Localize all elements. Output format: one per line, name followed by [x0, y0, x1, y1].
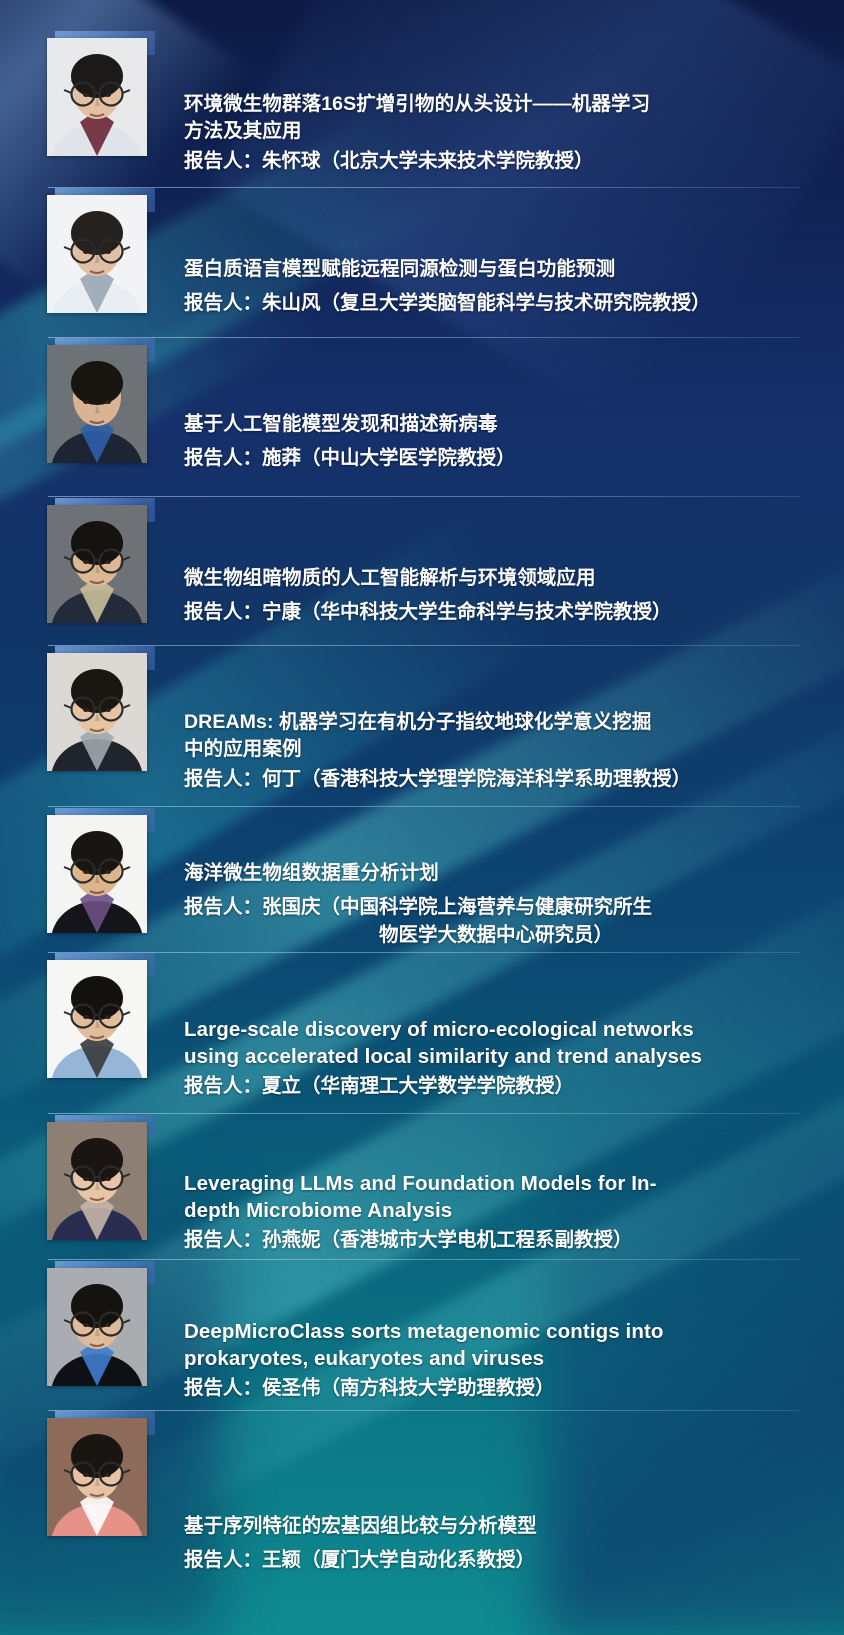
speaker-text: 报告人：孙燕妮（香港城市大学电机工程系副教授） [184, 1229, 633, 1251]
session-text: Large-scale discovery of micro-ecologica… [147, 960, 814, 1100]
session-text: 环境微生物群落16S扩增引物的从头设计——机器学习方法及其应用报告人：朱怀球（北… [147, 38, 814, 175]
speaker-text: 报告人：宁康（华中科技大学生命科学与技术学院教授） [184, 601, 672, 623]
portrait-xia-li [47, 960, 147, 1078]
talk-title: 基于人工智能模型发现和描述新病毒 [184, 411, 814, 438]
talk-title: DeepMicroClass sorts metagenomic contigs… [184, 1318, 814, 1372]
speaker-line: 报告人：何丁（香港科技大学理学院海洋科学系助理教授） [184, 765, 814, 793]
speaker-text: 报告人：王颖（厦门大学自动化系教授） [184, 1549, 535, 1571]
speaker-line: 报告人：朱怀球（北京大学未来技术学院教授） [184, 147, 814, 175]
speaker-line: 报告人：王颖（厦门大学自动化系教授） [184, 1546, 814, 1574]
session-divider [48, 337, 800, 338]
talk-title: 环境微生物群落16S扩增引物的从头设计——机器学习方法及其应用 [184, 91, 814, 145]
speaker-line: 报告人：宁康（华中科技大学生命科学与技术学院教授） [184, 598, 814, 626]
session-item[interactable]: 基于序列特征的宏基因组比较与分析模型报告人：王颖（厦门大学自动化系教授） [0, 1418, 844, 1635]
session-item[interactable]: 基于人工智能模型发现和描述新病毒报告人：施莽（中山大学医学院教授） [0, 345, 844, 505]
session-text: 基于人工智能模型发现和描述新病毒报告人：施莽（中山大学医学院教授） [147, 345, 814, 472]
session-text: DeepMicroClass sorts metagenomic contigs… [147, 1268, 814, 1402]
session-divider [48, 187, 800, 188]
portrait-hou-shengwei [47, 1268, 147, 1386]
portrait-sun-yanni [47, 1122, 147, 1240]
talk-title: 海洋微生物组数据重分析计划 [184, 860, 814, 887]
talk-title-line: DeepMicroClass sorts metagenomic contigs… [184, 1320, 664, 1343]
talk-title: 蛋白质语言模型赋能远程同源检测与蛋白功能预测 [184, 256, 814, 283]
speaker-line: 报告人：朱山风（复旦大学类脑智能科学与技术研究院教授） [184, 289, 814, 317]
talk-title-line: 方法及其应用 [184, 120, 302, 142]
speaker-photo-wrap [47, 505, 147, 623]
session-item[interactable]: 蛋白质语言模型赋能远程同源检测与蛋白功能预测报告人：朱山风（复旦大学类脑智能科学… [0, 195, 844, 345]
talk-title-line: 蛋白质语言模型赋能远程同源检测与蛋白功能预测 [184, 258, 615, 280]
session-divider [48, 952, 800, 953]
talk-title: 基于序列特征的宏基因组比较与分析模型 [184, 1513, 814, 1540]
session-divider [48, 645, 800, 646]
talk-title-line: prokaryotes, eukaryotes and viruses [184, 1347, 544, 1370]
speaker-photo-wrap [47, 345, 147, 463]
speaker-photo-wrap [47, 1268, 147, 1386]
session-item[interactable]: DeepMicroClass sorts metagenomic contigs… [0, 1268, 844, 1418]
session-divider [48, 1259, 800, 1260]
session-text: 微生物组暗物质的人工智能解析与环境领域应用报告人：宁康（华中科技大学生命科学与技… [147, 505, 814, 626]
talk-title-line: using accelerated local similarity and t… [184, 1045, 702, 1068]
portrait-zhang-guoqing [47, 815, 147, 933]
session-item[interactable]: Large-scale discovery of micro-ecologica… [0, 960, 844, 1122]
portrait-shi-mang [47, 345, 147, 463]
session-divider [48, 806, 800, 807]
speaker-text: 报告人：施莽（中山大学医学院教授） [184, 447, 516, 469]
speaker-photo-wrap [47, 960, 147, 1078]
conference-speaker-poster: 环境微生物群落16S扩增引物的从头设计——机器学习方法及其应用报告人：朱怀球（北… [0, 0, 844, 1635]
speaker-line: 报告人：夏立（华南理工大学数学学院教授） [184, 1072, 814, 1100]
talk-title-line: Leveraging LLMs and Foundation Models fo… [184, 1172, 657, 1195]
speaker-photo-wrap [47, 1122, 147, 1240]
speaker-photo-wrap [47, 815, 147, 933]
speaker-line: 报告人：侯圣伟（南方科技大学助理教授） [184, 1374, 814, 1402]
portrait-ning-kang [47, 505, 147, 623]
session-text: Leveraging LLMs and Foundation Models fo… [147, 1122, 814, 1254]
session-item[interactable]: 微生物组暗物质的人工智能解析与环境领域应用报告人：宁康（华中科技大学生命科学与技… [0, 505, 844, 653]
talk-title-line: Large-scale discovery of micro-ecologica… [184, 1018, 694, 1041]
speaker-photo-wrap [47, 653, 147, 771]
talk-title: Large-scale discovery of micro-ecologica… [184, 1016, 814, 1070]
talk-title-line: depth Microbiome Analysis [184, 1199, 452, 1222]
session-item[interactable]: 海洋微生物组数据重分析计划报告人：张国庆（中国科学院上海营养与健康研究所生物医学… [0, 815, 844, 960]
session-divider [48, 1410, 800, 1411]
talk-title: Leveraging LLMs and Foundation Models fo… [184, 1170, 814, 1224]
speaker-text: 报告人：张国庆（中国科学院上海营养与健康研究所生 [184, 896, 652, 918]
talk-title-line: 基于人工智能模型发现和描述新病毒 [184, 413, 498, 435]
talk-title-line: 微生物组暗物质的人工智能解析与环境领域应用 [184, 567, 596, 589]
portrait-zhu-huaiqiu [47, 38, 147, 156]
speaker-line: 报告人：孙燕妮（香港城市大学电机工程系副教授） [184, 1226, 814, 1254]
speaker-text: 报告人：何丁（香港科技大学理学院海洋科学系助理教授） [184, 768, 691, 790]
talk-title: DREAMs: 机器学习在有机分子指纹地球化学意义挖掘中的应用案例 [184, 709, 814, 763]
talk-title-line: 中的应用案例 [184, 738, 302, 760]
portrait-wang-ying [47, 1418, 147, 1536]
speaker-text: 报告人：朱山风（复旦大学类脑智能科学与技术研究院教授） [184, 292, 711, 314]
talk-title-line: 海洋微生物组数据重分析计划 [184, 862, 439, 884]
talk-title: 微生物组暗物质的人工智能解析与环境领域应用 [184, 565, 814, 592]
session-item[interactable]: DREAMs: 机器学习在有机分子指纹地球化学意义挖掘中的应用案例报告人：何丁（… [0, 653, 844, 815]
session-item[interactable]: 环境微生物群落16S扩增引物的从头设计——机器学习方法及其应用报告人：朱怀球（北… [0, 38, 844, 195]
session-item[interactable]: Leveraging LLMs and Foundation Models fo… [0, 1122, 844, 1268]
speaker-text: 报告人：夏立（华南理工大学数学学院教授） [184, 1075, 574, 1097]
session-text: 基于序列特征的宏基因组比较与分析模型报告人：王颖（厦门大学自动化系教授） [147, 1418, 814, 1574]
speaker-text: 报告人：侯圣伟（南方科技大学助理教授） [184, 1377, 555, 1399]
speaker-line: 报告人：张国庆（中国科学院上海营养与健康研究所生物医学大数据中心研究员） [184, 893, 814, 949]
talk-title-line: DREAMs: 机器学习在有机分子指纹地球化学意义挖掘 [184, 711, 651, 733]
speaker-line: 报告人：施莽（中山大学医学院教授） [184, 444, 814, 472]
talk-title-line: 基于序列特征的宏基因组比较与分析模型 [184, 1515, 537, 1537]
speaker-text: 报告人：朱怀球（北京大学未来技术学院教授） [184, 150, 594, 172]
portrait-he-ding [47, 653, 147, 771]
session-text: DREAMs: 机器学习在有机分子指纹地球化学意义挖掘中的应用案例报告人：何丁（… [147, 653, 814, 793]
session-text: 蛋白质语言模型赋能远程同源检测与蛋白功能预测报告人：朱山风（复旦大学类脑智能科学… [147, 195, 814, 317]
portrait-zhu-shanfeng [47, 195, 147, 313]
session-divider [48, 1113, 800, 1114]
speaker-photo-wrap [47, 38, 147, 156]
speaker-photo-wrap [47, 195, 147, 313]
session-text: 海洋微生物组数据重分析计划报告人：张国庆（中国科学院上海营养与健康研究所生物医学… [147, 815, 814, 949]
talk-title-line: 环境微生物群落16S扩增引物的从头设计——机器学习 [184, 93, 650, 115]
session-divider [48, 496, 800, 497]
speaker-text-continued: 物医学大数据中心研究员） [184, 921, 814, 949]
speaker-photo-wrap [47, 1418, 147, 1536]
